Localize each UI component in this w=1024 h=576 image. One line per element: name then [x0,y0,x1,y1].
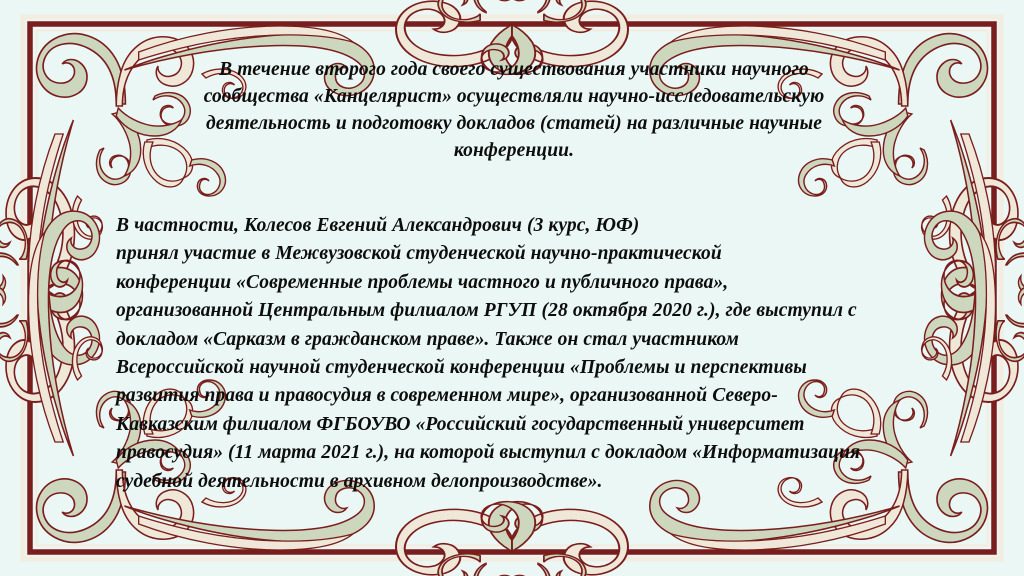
text-line: конференции. [150,137,878,164]
text-line: судебной деятельности в архивном делопро… [116,468,918,496]
text-line: Кавказским филиалом ФГБОУВО «Российский … [116,411,918,439]
text-line: правосудия» (11 марта 2021 г.), на котор… [116,439,918,467]
presentation-slide: В течение второго года своего существова… [0,0,1024,576]
text-line: конференции «Современные проблемы частно… [116,269,918,297]
text-line: организованной Центральным филиалом РГУП… [116,297,918,325]
paragraph-intro: В течение второго года своего существова… [108,56,920,164]
edge-ornament-right [941,178,1024,402]
edge-ornament-left [0,178,83,402]
paragraph-spacer [108,168,920,212]
text-line: принял участие в Межвузовской студенческ… [116,240,918,268]
text-line: Всероссийской научной студенческой конфе… [116,354,918,382]
paragraph-details: В частности, Колесов Евгений Александров… [108,212,920,496]
text-line: деятельность и подготовку докладов (стат… [150,110,878,137]
text-line: развития права и правосудия в современно… [116,382,918,410]
slide-text-content: В течение второго года своего существова… [108,56,920,506]
text-line: В течение второго года своего существова… [150,56,878,83]
text-line: сообщества «Канцелярист» осуществляли на… [150,83,878,110]
edge-ornament-bottom [396,502,628,576]
text-line: В частности, Колесов Евгений Александров… [116,212,918,240]
text-line: докладом «Сарказм в гражданском праве». … [116,326,918,354]
